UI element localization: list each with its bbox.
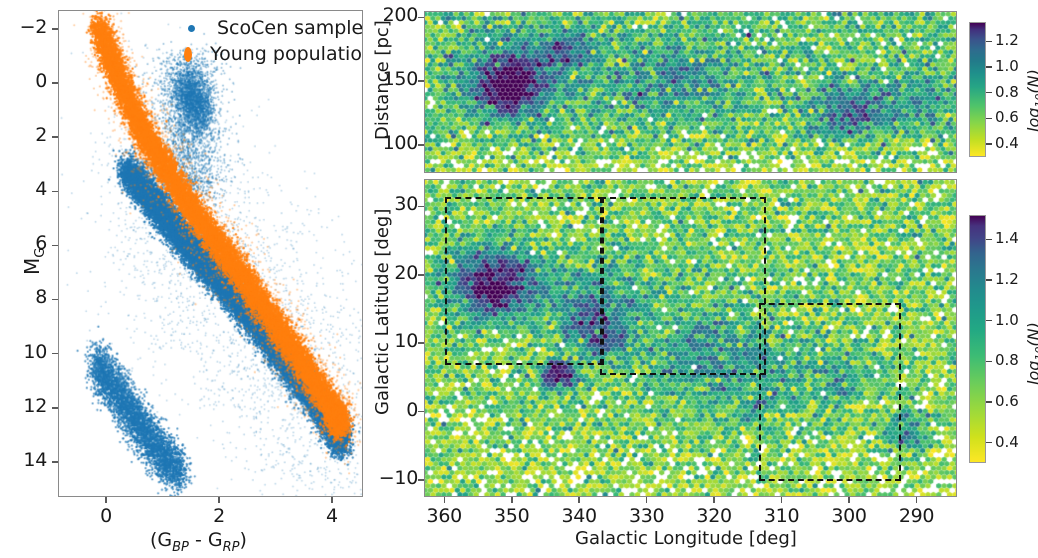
longitude-xtick-label: 350 <box>482 505 542 527</box>
longitude-xtick-mark <box>916 497 918 503</box>
cmd-ytick-label: 8 <box>0 286 47 308</box>
longitude-xtick-mark <box>578 497 580 503</box>
lat-cb-title-tail: (N) <box>1024 322 1038 346</box>
cmd-ytick-mark <box>52 299 58 301</box>
latitude-ytick-label: −10 <box>378 467 418 489</box>
colorbar-tick-mark <box>986 320 992 321</box>
dist-cb-title-tail: (N) <box>1024 69 1038 93</box>
colorbar-tick-mark <box>986 41 992 42</box>
cmd-xtick-mark <box>331 497 333 503</box>
latitude-y-axis-label: Galactic Latitude [deg] <box>372 209 393 415</box>
longitude-xtick-mark <box>848 497 850 503</box>
cmd-plot-area: ScoCen sample Young population <box>58 10 363 497</box>
colorbar-tick-label: 1.2 <box>995 270 1019 288</box>
dist-cb-title-log: log <box>1024 108 1038 132</box>
latitude-colorbar-title: log10(N) <box>1024 322 1038 385</box>
latitude-ytick-mark <box>418 342 424 344</box>
colorbar-tick-mark <box>986 92 992 93</box>
cmd-y-axis-label-main: M <box>20 258 44 275</box>
longitude-xtick-label: 310 <box>752 505 812 527</box>
cmd-ytick-mark <box>52 191 58 193</box>
cmd-x-axis-label: (GBP - GRP) <box>150 529 247 555</box>
colorbar-tick-mark <box>986 401 992 402</box>
latitude-ytick-mark <box>418 479 424 481</box>
longitude-x-axis-label: Galactic Longitude [deg] <box>575 528 797 549</box>
colorbar-tick-label: 0.4 <box>995 433 1019 451</box>
cmd-ytick-label: 14 <box>0 449 47 471</box>
distance-ytick-mark <box>418 80 424 82</box>
legend-marker-young <box>184 47 192 62</box>
figure-canvas: ScoCen sample Young population −20246810… <box>0 0 1038 558</box>
legend-marker-scocen <box>188 25 195 32</box>
latitude-ytick-mark <box>418 274 424 276</box>
distance-plot-area <box>424 11 957 173</box>
longitude-xtick-label: 290 <box>887 505 947 527</box>
latitude-ytick-mark <box>418 411 424 413</box>
cmd-xlab-sub-bp: BP <box>172 540 189 555</box>
cmd-ytick-label: 10 <box>0 341 47 363</box>
longitude-xtick-label: 330 <box>617 505 677 527</box>
cmd-ytick-label: −2 <box>0 16 47 38</box>
cmd-y-axis-label-sub: G <box>33 248 48 258</box>
lat-cb-title-log: log <box>1024 361 1038 385</box>
distance-colorbar <box>969 22 986 157</box>
cmd-ytick-label: 2 <box>0 124 47 146</box>
colorbar-tick-label: 1.0 <box>995 311 1019 329</box>
cmd-xlab-close: ) <box>239 529 246 551</box>
cmd-ytick-label: 4 <box>0 178 47 200</box>
cmd-xtick-label: 0 <box>86 505 126 527</box>
dist-cb-title-sub: 10 <box>1033 94 1038 108</box>
longitude-xtick-mark <box>713 497 715 503</box>
latitude-ytick-mark <box>418 206 424 208</box>
colorbar-tick-mark <box>986 66 992 67</box>
cmd-ytick-mark <box>52 136 58 138</box>
region-box-upper-centaurus-lupus <box>600 197 765 375</box>
longitude-xtick-mark <box>781 497 783 503</box>
region-box-lower-centaurus-crux <box>759 303 901 481</box>
legend-label-scocen: ScoCen sample <box>217 17 363 39</box>
distance-ytick-mark <box>418 144 424 146</box>
colorbar-tick-label: 0.8 <box>995 83 1019 101</box>
colorbar-tick-mark <box>986 118 992 119</box>
cmd-scatter-canvas <box>59 11 362 496</box>
distance-colorbar-title: log10(N) <box>1024 69 1038 132</box>
cmd-ytick-mark <box>52 28 58 30</box>
latitude-plot-area <box>424 179 957 497</box>
legend-item-young: Young population <box>179 41 363 67</box>
cmd-ytick-mark <box>52 82 58 84</box>
colorbar-tick-label: 0.6 <box>995 108 1019 126</box>
lat-cb-title-sub: 10 <box>1033 347 1038 361</box>
colorbar-tick-label: 1.4 <box>995 229 1019 247</box>
distance-ytick-mark <box>418 17 424 19</box>
colorbar-tick-mark <box>986 442 992 443</box>
longitude-xtick-label: 320 <box>684 505 744 527</box>
cmd-legend: ScoCen sample Young population <box>179 15 363 67</box>
cmd-xlab-sub-rp: RP <box>223 540 240 555</box>
cmd-xtick-mark <box>105 497 107 503</box>
colorbar-tick-label: 1.2 <box>995 31 1019 49</box>
longitude-xtick-mark <box>444 497 446 503</box>
colorbar-tick-mark <box>986 279 992 280</box>
cmd-xlab-mid: - G <box>189 529 223 551</box>
cmd-y-axis-label: MG <box>20 248 48 275</box>
longitude-xtick-label: 340 <box>549 505 609 527</box>
colorbar-tick-label: 0.6 <box>995 392 1019 410</box>
colorbar-tick-label: 1.0 <box>995 57 1019 75</box>
cmd-xtick-mark <box>218 497 220 503</box>
distance-y-axis-label: Distance [pc] <box>372 20 393 140</box>
cmd-ytick-mark <box>52 407 58 409</box>
longitude-xtick-label: 300 <box>819 505 879 527</box>
cmd-xtick-label: 2 <box>199 505 239 527</box>
cmd-ytick-label: 0 <box>0 70 47 92</box>
longitude-xtick-mark <box>646 497 648 503</box>
cmd-xtick-label: 4 <box>312 505 352 527</box>
cmd-xlab-open: (G <box>150 529 172 551</box>
colorbar-tick-label: 0.4 <box>995 134 1019 152</box>
cmd-ytick-mark <box>52 461 58 463</box>
colorbar-tick-mark <box>986 239 992 240</box>
colorbar-tick-label: 0.8 <box>995 351 1019 369</box>
legend-label-young: Young population <box>210 43 363 65</box>
longitude-xtick-label: 360 <box>414 505 474 527</box>
latitude-colorbar <box>969 215 986 463</box>
cmd-ytick-mark <box>52 353 58 355</box>
longitude-xtick-mark <box>511 497 513 503</box>
colorbar-tick-mark <box>986 143 992 144</box>
cmd-ytick-mark <box>52 245 58 247</box>
colorbar-tick-mark <box>986 361 992 362</box>
cmd-ytick-label: 12 <box>0 395 47 417</box>
legend-item-scocen: ScoCen sample <box>179 15 363 41</box>
region-box-upper-scorpius <box>445 197 604 365</box>
distance-density-canvas <box>425 12 956 172</box>
